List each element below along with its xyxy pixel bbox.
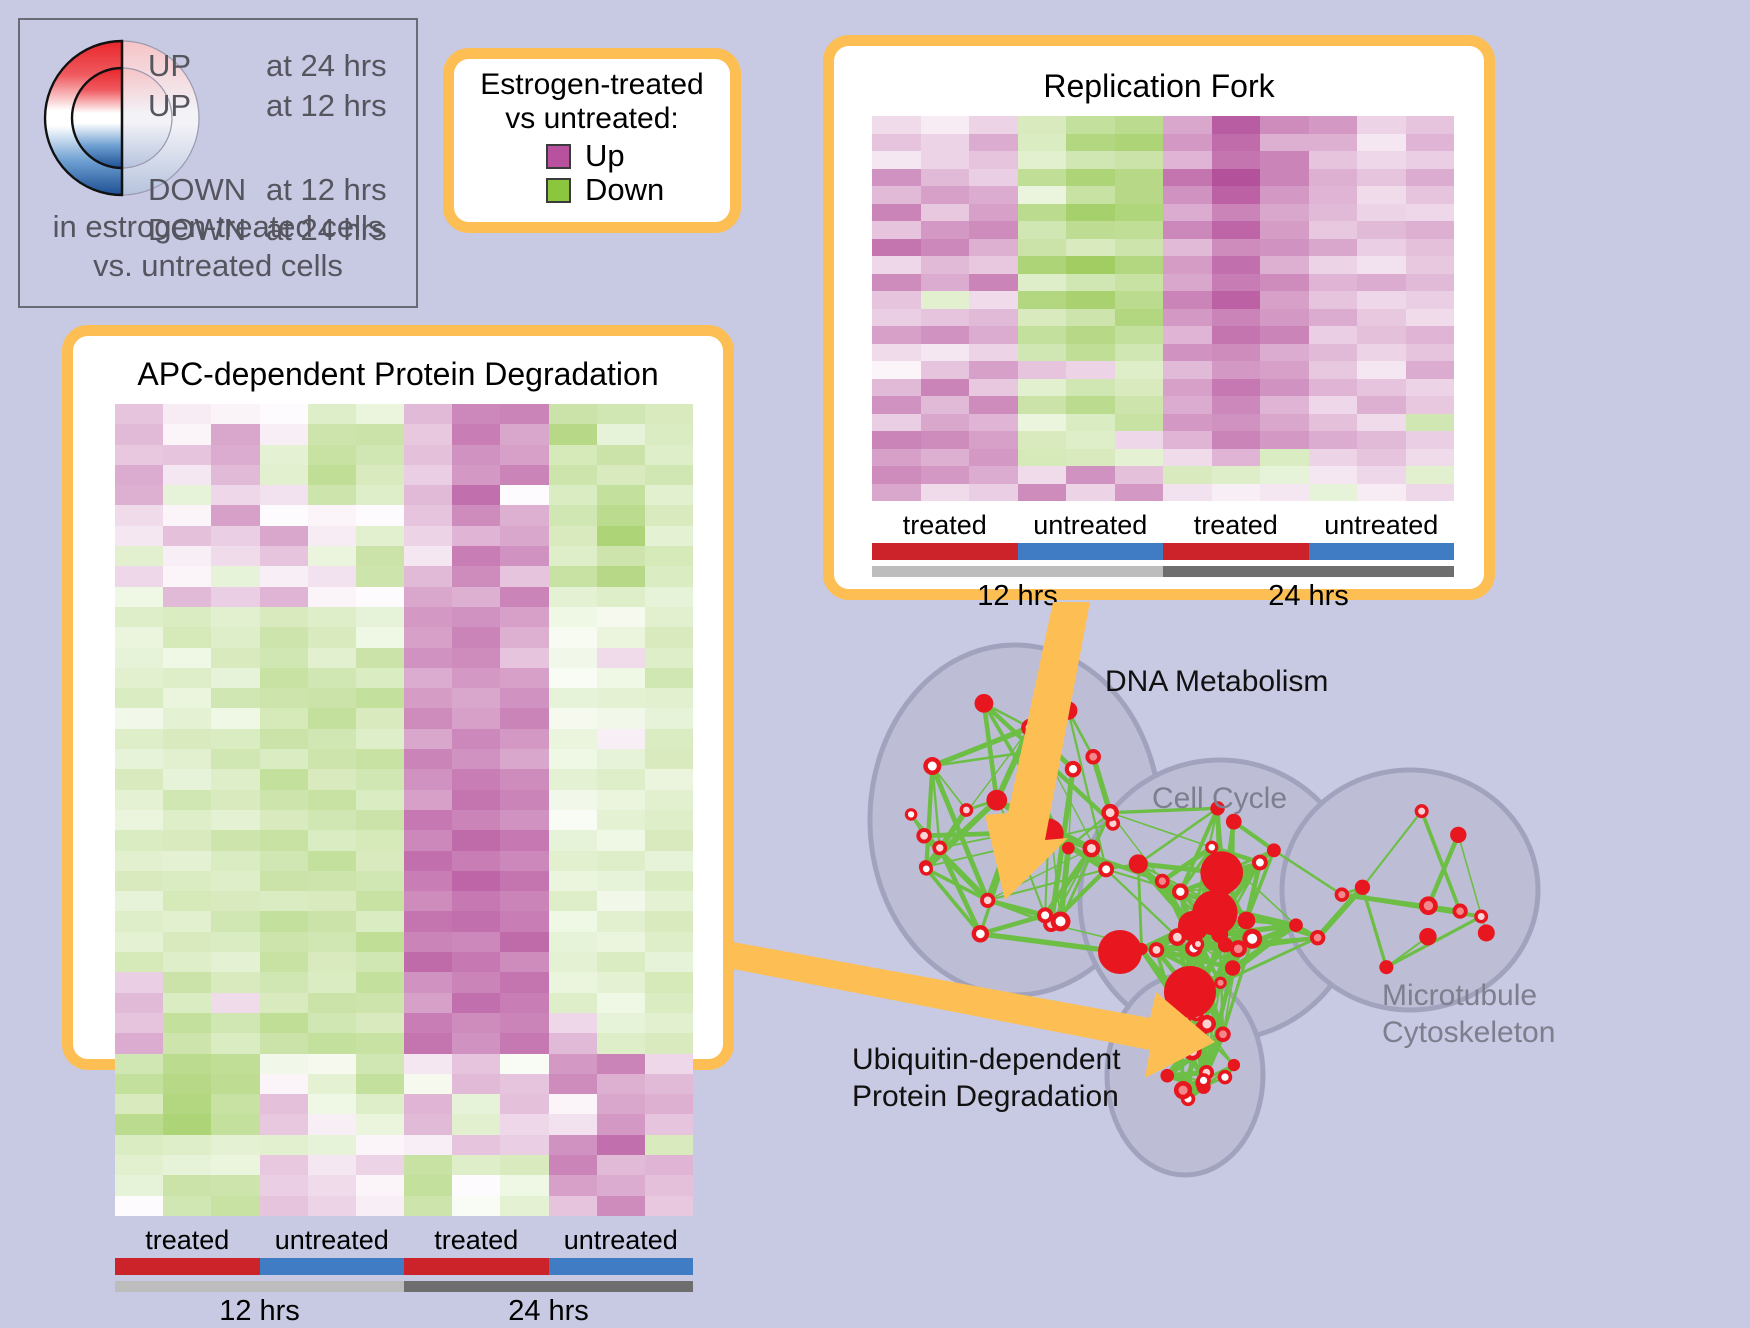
heatmap-cell bbox=[921, 449, 970, 467]
legend-item-up: Up bbox=[546, 139, 730, 173]
heatmap-cell bbox=[500, 952, 548, 972]
heatmap-cell bbox=[549, 1033, 597, 1053]
heatmap-cell bbox=[356, 668, 404, 688]
heatmap-cell bbox=[211, 688, 259, 708]
heatmap-cell bbox=[163, 526, 211, 546]
heatmap-cell bbox=[260, 566, 308, 586]
heatmap-cell bbox=[1309, 291, 1358, 309]
heatmap-cell bbox=[404, 1135, 452, 1155]
node-outer bbox=[1059, 701, 1078, 720]
heatmap-cell bbox=[500, 1196, 548, 1216]
heatmap-cell bbox=[597, 1074, 645, 1094]
heatmap-cell bbox=[260, 1114, 308, 1134]
heatmap-cell bbox=[500, 1033, 548, 1053]
treatment-labels: treated untreated treated untreated bbox=[872, 510, 1454, 541]
heatmap-cell bbox=[211, 729, 259, 749]
node-inner bbox=[1069, 765, 1077, 773]
heatmap-cell bbox=[260, 404, 308, 424]
heatmap-cell bbox=[500, 749, 548, 769]
heatmap-cell bbox=[1115, 256, 1164, 274]
heatmap-cell bbox=[549, 587, 597, 607]
network-node[interactable] bbox=[986, 790, 1007, 811]
heatmap-cell bbox=[115, 769, 163, 789]
heatmap-cell bbox=[404, 1054, 452, 1074]
node-outer bbox=[1129, 854, 1148, 873]
network-node[interactable] bbox=[1083, 839, 1101, 857]
heatmap-cell bbox=[597, 1135, 645, 1155]
network-node[interactable] bbox=[1419, 896, 1438, 915]
heatmap-cell bbox=[872, 466, 921, 484]
network-node[interactable] bbox=[1310, 930, 1325, 945]
heatmap-cell bbox=[1163, 169, 1212, 187]
network-node[interactable] bbox=[1037, 907, 1053, 923]
heatmap-cell bbox=[645, 445, 693, 465]
heatmap-cell bbox=[1406, 134, 1455, 152]
heatmap-cell bbox=[597, 952, 645, 972]
heatmap-cell bbox=[163, 1175, 211, 1195]
network-node[interactable] bbox=[1198, 1015, 1216, 1033]
heatmap-cell bbox=[1018, 116, 1067, 134]
heatmap-cell bbox=[1260, 484, 1309, 502]
heatmap-cell bbox=[163, 1155, 211, 1175]
heatmap-cell bbox=[163, 668, 211, 688]
treatment-label: untreated bbox=[1018, 510, 1164, 541]
heatmap-cell bbox=[921, 361, 970, 379]
heatmap-cell bbox=[1406, 169, 1455, 187]
heatmap-cell bbox=[260, 972, 308, 992]
heatmap-cell bbox=[115, 587, 163, 607]
network-node[interactable] bbox=[1065, 761, 1082, 778]
heatmap-cell bbox=[597, 749, 645, 769]
cluster-label-ubiquitin-line1: Ubiquitin-dependent bbox=[852, 1042, 1121, 1079]
heatmap-cell bbox=[260, 952, 308, 972]
heatmap-cell bbox=[597, 810, 645, 830]
network-node[interactable] bbox=[1200, 851, 1243, 894]
heatmap-cell bbox=[404, 485, 452, 505]
heatmap-cell bbox=[260, 810, 308, 830]
heatmap-cell bbox=[404, 1094, 452, 1114]
node-inner bbox=[1153, 946, 1161, 954]
heatmap-cell bbox=[921, 466, 970, 484]
network-node[interactable] bbox=[1160, 1069, 1174, 1083]
heatmap-cell bbox=[115, 485, 163, 505]
apc-degradation-axis: treated untreated treated untreated 12 h bbox=[115, 1225, 693, 1328]
heatmap-cell bbox=[1066, 116, 1115, 134]
heatmap-cell bbox=[1357, 396, 1406, 414]
node-inner bbox=[1041, 911, 1049, 919]
network-node[interactable] bbox=[1098, 930, 1142, 974]
heatmap-cell bbox=[1309, 431, 1358, 449]
heatmap-cell bbox=[211, 769, 259, 789]
network-node[interactable] bbox=[1172, 1027, 1190, 1045]
heatmap-cell bbox=[356, 688, 404, 708]
network-node[interactable] bbox=[1164, 966, 1216, 1018]
heatmap-cell bbox=[404, 526, 452, 546]
node-inner bbox=[1256, 859, 1264, 867]
node-inner bbox=[1202, 1019, 1211, 1028]
heatmap-cell bbox=[549, 1013, 597, 1033]
heatmap-cell bbox=[115, 627, 163, 647]
heatmap-cell bbox=[115, 708, 163, 728]
heatmap-cell bbox=[211, 648, 259, 668]
heatmap-cell bbox=[921, 204, 970, 222]
heatmap-cell bbox=[1212, 274, 1261, 292]
heatmap-cell bbox=[921, 169, 970, 187]
heatmap-cell bbox=[1066, 309, 1115, 327]
network-node[interactable] bbox=[1289, 918, 1303, 932]
heatmap-cell bbox=[452, 1114, 500, 1134]
heatmap-cell bbox=[1212, 291, 1261, 309]
network-node[interactable] bbox=[1033, 819, 1064, 850]
heatmap-cell bbox=[404, 708, 452, 728]
node-outer bbox=[1419, 928, 1437, 946]
node-inner bbox=[1178, 1086, 1187, 1095]
heatmap-cell bbox=[645, 1135, 693, 1155]
heatmap-cell bbox=[969, 431, 1018, 449]
heatmap-cell bbox=[597, 668, 645, 688]
heatmap-cell bbox=[645, 729, 693, 749]
heatmap-cell bbox=[356, 810, 404, 830]
heatmap-cell bbox=[549, 688, 597, 708]
heatmap-cell bbox=[1066, 326, 1115, 344]
heatmap-cell bbox=[1309, 274, 1358, 292]
heatmap-cell bbox=[500, 627, 548, 647]
heatmap-cell bbox=[115, 566, 163, 586]
heatmap-cell bbox=[597, 790, 645, 810]
heatmap-cell bbox=[1115, 431, 1164, 449]
heatmap-cell bbox=[308, 769, 356, 789]
treatment-label: untreated bbox=[1309, 510, 1455, 541]
heatmap-cell bbox=[597, 607, 645, 627]
heatmap-cell bbox=[1212, 256, 1261, 274]
heatmap-cell bbox=[211, 505, 259, 525]
heatmap-cell bbox=[549, 1114, 597, 1134]
heatmap-cell bbox=[260, 505, 308, 525]
heatmap-cell bbox=[500, 546, 548, 566]
heatmap-cell bbox=[969, 116, 1018, 134]
heatmap-cell bbox=[356, 485, 404, 505]
color-key-footer-line1: in estrogen-treated cells bbox=[20, 208, 416, 247]
heatmap-cell bbox=[1115, 344, 1164, 362]
heatmap-cell bbox=[645, 1114, 693, 1134]
network-node[interactable] bbox=[1192, 938, 1204, 950]
heatmap-cell bbox=[549, 404, 597, 424]
network-node[interactable] bbox=[975, 694, 994, 713]
bar-segment-12hrs bbox=[872, 566, 1163, 577]
network-node[interactable] bbox=[1474, 910, 1488, 924]
heatmap-cell bbox=[1163, 326, 1212, 344]
heatmap-cell bbox=[1018, 449, 1067, 467]
heatmap-cell bbox=[211, 830, 259, 850]
heatmap-cell bbox=[211, 465, 259, 485]
heatmap-cell bbox=[1260, 361, 1309, 379]
heatmap-cell bbox=[1212, 431, 1261, 449]
network-node[interactable] bbox=[1215, 1027, 1231, 1043]
network-node[interactable] bbox=[920, 862, 933, 875]
heatmap-cell bbox=[404, 851, 452, 871]
heatmap-cell bbox=[597, 485, 645, 505]
heatmap-cell bbox=[1115, 151, 1164, 169]
heatmap-cell bbox=[163, 1094, 211, 1114]
heatmap-cell bbox=[1115, 326, 1164, 344]
key-row-down-12: DOWN at 12 hrs bbox=[148, 172, 387, 212]
heatmap-cell bbox=[500, 871, 548, 891]
heatmap-cell bbox=[211, 485, 259, 505]
heatmap-cell bbox=[1309, 326, 1358, 344]
network-node[interactable] bbox=[1021, 719, 1039, 737]
network-node[interactable] bbox=[960, 803, 974, 817]
heatmap-cell bbox=[260, 932, 308, 952]
network-node[interactable] bbox=[1035, 742, 1051, 758]
network-node[interactable] bbox=[1051, 911, 1071, 931]
heatmap-cell bbox=[645, 749, 693, 769]
network-node[interactable] bbox=[994, 813, 1034, 853]
network-node[interactable] bbox=[1267, 843, 1281, 857]
heatmap-cell bbox=[549, 465, 597, 485]
node-outer bbox=[1164, 966, 1216, 1018]
heatmap-cell bbox=[163, 708, 211, 728]
heatmap-cell bbox=[549, 972, 597, 992]
heatmap-cell bbox=[1115, 484, 1164, 502]
heatmap-cell bbox=[452, 668, 500, 688]
bar-segment-treated bbox=[404, 1258, 549, 1275]
network-node[interactable] bbox=[1218, 1070, 1232, 1084]
heatmap-cell bbox=[500, 404, 548, 424]
heatmap-cell bbox=[597, 932, 645, 952]
heatmap-cell bbox=[1066, 169, 1115, 187]
heatmap-cell bbox=[115, 445, 163, 465]
heatmap-cell bbox=[645, 485, 693, 505]
heatmap-cell bbox=[549, 911, 597, 931]
heatmap-cell bbox=[452, 445, 500, 465]
network-node[interactable] bbox=[1379, 960, 1393, 974]
heatmap-cell bbox=[1406, 221, 1455, 239]
heatmap-cell bbox=[356, 465, 404, 485]
heatmap-cell bbox=[115, 465, 163, 485]
heatmap-cell bbox=[1357, 204, 1406, 222]
heatmap-cell bbox=[452, 952, 500, 972]
network-node[interactable] bbox=[1059, 701, 1078, 720]
heatmap-cell bbox=[404, 1196, 452, 1216]
heatmap-cell bbox=[308, 1074, 356, 1094]
heatmap-cell bbox=[1066, 134, 1115, 152]
heatmap-cell bbox=[308, 688, 356, 708]
heatmap-cell bbox=[1115, 274, 1164, 292]
network-node[interactable] bbox=[1196, 1073, 1211, 1088]
network-node[interactable] bbox=[980, 893, 995, 908]
heatmap-cell bbox=[872, 116, 921, 134]
heatmap-cell bbox=[452, 566, 500, 586]
network-node[interactable] bbox=[932, 840, 947, 855]
heatmap-cell bbox=[211, 526, 259, 546]
network-node[interactable] bbox=[916, 828, 931, 843]
heatmap-cell bbox=[597, 1114, 645, 1134]
network-node[interactable] bbox=[1192, 890, 1237, 935]
heatmap-cell bbox=[163, 607, 211, 627]
heatmap-cell bbox=[549, 485, 597, 505]
heatmap-cell bbox=[308, 668, 356, 688]
heatmap-cell bbox=[921, 186, 970, 204]
heatmap-cell bbox=[1115, 186, 1164, 204]
heatmap-cell bbox=[549, 749, 597, 769]
heatmap-cell bbox=[452, 749, 500, 769]
network-node[interactable] bbox=[923, 757, 941, 775]
heatmap-cell bbox=[404, 1033, 452, 1053]
network-node[interactable] bbox=[1149, 942, 1165, 958]
network-node[interactable] bbox=[1478, 924, 1495, 941]
heatmap-cell bbox=[260, 668, 308, 688]
heatmap-cell bbox=[1018, 431, 1067, 449]
network-node[interactable] bbox=[1183, 1042, 1201, 1060]
heatmap-cell bbox=[597, 891, 645, 911]
network-node[interactable] bbox=[1228, 1059, 1240, 1071]
network-node[interactable] bbox=[1415, 804, 1429, 818]
network-node[interactable] bbox=[1453, 904, 1468, 919]
node-inner bbox=[1056, 916, 1066, 926]
network-node[interactable] bbox=[1155, 874, 1170, 889]
heatmap-cell bbox=[1212, 449, 1261, 467]
heatmap-cell bbox=[356, 526, 404, 546]
heatmap-cell bbox=[115, 607, 163, 627]
heatmap-cell bbox=[645, 668, 693, 688]
network-node[interactable] bbox=[1252, 855, 1268, 871]
heatmap-cell bbox=[452, 505, 500, 525]
heatmap-cell bbox=[260, 729, 308, 749]
heatmap-cell bbox=[308, 648, 356, 668]
heatmap-cell bbox=[260, 485, 308, 505]
heatmap-cell bbox=[1406, 344, 1455, 362]
network-node[interactable] bbox=[1335, 887, 1350, 902]
cluster-label-ubiquitin-line2: Protein Degradation bbox=[852, 1079, 1121, 1116]
heatmap-cell bbox=[211, 911, 259, 931]
heatmap-cell bbox=[645, 952, 693, 972]
heatmap-cell bbox=[1163, 449, 1212, 467]
heatmap-cell bbox=[1018, 274, 1067, 292]
heatmap-cell bbox=[500, 465, 548, 485]
heatmap-cell bbox=[645, 769, 693, 789]
heatmap-cell bbox=[645, 972, 693, 992]
treatment-label: untreated bbox=[549, 1225, 694, 1256]
network-node[interactable] bbox=[1172, 883, 1189, 900]
heatmap-cell bbox=[1260, 169, 1309, 187]
node-inner bbox=[1219, 1030, 1227, 1038]
network-node[interactable] bbox=[1355, 880, 1370, 895]
replication-fork-axis: treated untreated treated untreated 12 h bbox=[872, 510, 1454, 613]
network-node[interactable] bbox=[1226, 814, 1242, 830]
heatmap-cell bbox=[872, 239, 921, 257]
network-node[interactable] bbox=[1230, 940, 1247, 957]
heatmap-cell bbox=[1018, 326, 1067, 344]
network-node[interactable] bbox=[1174, 1081, 1192, 1099]
heatmap-cell bbox=[404, 891, 452, 911]
network-node[interactable] bbox=[1062, 842, 1075, 855]
heatmap-cell bbox=[1357, 291, 1406, 309]
heatmap-cell bbox=[356, 1013, 404, 1033]
time-color-bar bbox=[115, 1281, 693, 1292]
heatmap-cell bbox=[115, 749, 163, 769]
network-node[interactable] bbox=[972, 925, 989, 942]
heatmap-cell bbox=[1309, 344, 1358, 362]
heatmap-cell bbox=[163, 505, 211, 525]
heatmap-cell bbox=[1357, 134, 1406, 152]
heatmap-cell bbox=[1309, 466, 1358, 484]
heatmap-cell bbox=[872, 204, 921, 222]
heatmap-cell bbox=[356, 587, 404, 607]
heatmap-cell bbox=[115, 648, 163, 668]
node-inner bbox=[1188, 1047, 1197, 1056]
heatmap-cell bbox=[211, 1196, 259, 1216]
node-outer bbox=[1289, 918, 1303, 932]
network-node[interactable] bbox=[1085, 749, 1101, 765]
heatmap-cell bbox=[921, 221, 970, 239]
heatmap-cell bbox=[1066, 466, 1115, 484]
heatmap-cell bbox=[597, 526, 645, 546]
heatmap-cell bbox=[1018, 361, 1067, 379]
network-node[interactable] bbox=[1419, 928, 1437, 946]
heatmap-cell bbox=[645, 1013, 693, 1033]
heatmap-cell bbox=[1212, 239, 1261, 257]
heatmap-cell bbox=[969, 449, 1018, 467]
heatmap-cell bbox=[549, 891, 597, 911]
heatmap-cell bbox=[211, 627, 259, 647]
heatmap-cell bbox=[1260, 221, 1309, 239]
network-node[interactable] bbox=[905, 808, 918, 821]
heatmap-cell bbox=[969, 466, 1018, 484]
treatment-label: treated bbox=[115, 1225, 260, 1256]
network-node[interactable] bbox=[1129, 854, 1148, 873]
heatmap-cell bbox=[163, 1033, 211, 1053]
heatmap-cell bbox=[549, 790, 597, 810]
network-node[interactable] bbox=[1238, 912, 1256, 930]
heatmap-cell bbox=[549, 526, 597, 546]
node-inner bbox=[1195, 941, 1201, 947]
heatmap-cell bbox=[1115, 396, 1164, 414]
heatmap-cell bbox=[500, 485, 548, 505]
network-node[interactable] bbox=[1225, 960, 1240, 975]
heatmap-cell bbox=[500, 668, 548, 688]
network-node[interactable] bbox=[1214, 977, 1226, 989]
node-inner bbox=[1208, 844, 1215, 851]
heatmap-cell bbox=[921, 134, 970, 152]
heatmap-cell bbox=[1357, 116, 1406, 134]
heatmap-cell bbox=[1163, 466, 1212, 484]
node-outer bbox=[1172, 1027, 1190, 1045]
heatmap-cell bbox=[211, 1155, 259, 1175]
heatmap-cell bbox=[452, 851, 500, 871]
network-node[interactable] bbox=[1098, 861, 1114, 877]
treatment-color-bar bbox=[872, 543, 1454, 560]
heatmap-cell bbox=[115, 526, 163, 546]
heatmap-cell bbox=[1406, 256, 1455, 274]
legend-swatch-up-icon bbox=[546, 144, 571, 169]
heatmap-cell bbox=[452, 648, 500, 668]
heatmap-cell bbox=[1406, 361, 1455, 379]
bar-segment-12hrs bbox=[115, 1281, 404, 1292]
heatmap-cell bbox=[308, 1135, 356, 1155]
heatmap-cell bbox=[872, 186, 921, 204]
heatmap-cell bbox=[500, 445, 548, 465]
network-node[interactable] bbox=[1205, 841, 1218, 854]
network-node[interactable] bbox=[1101, 804, 1119, 822]
heatmap-cell bbox=[1406, 204, 1455, 222]
heatmap-cell bbox=[308, 830, 356, 850]
heatmap-cell bbox=[1115, 204, 1164, 222]
heatmap-cell bbox=[163, 648, 211, 668]
heatmap-cell bbox=[404, 911, 452, 931]
network-node[interactable] bbox=[1450, 827, 1466, 843]
node-inner bbox=[1338, 891, 1345, 898]
heatmap-cell bbox=[1309, 239, 1358, 257]
